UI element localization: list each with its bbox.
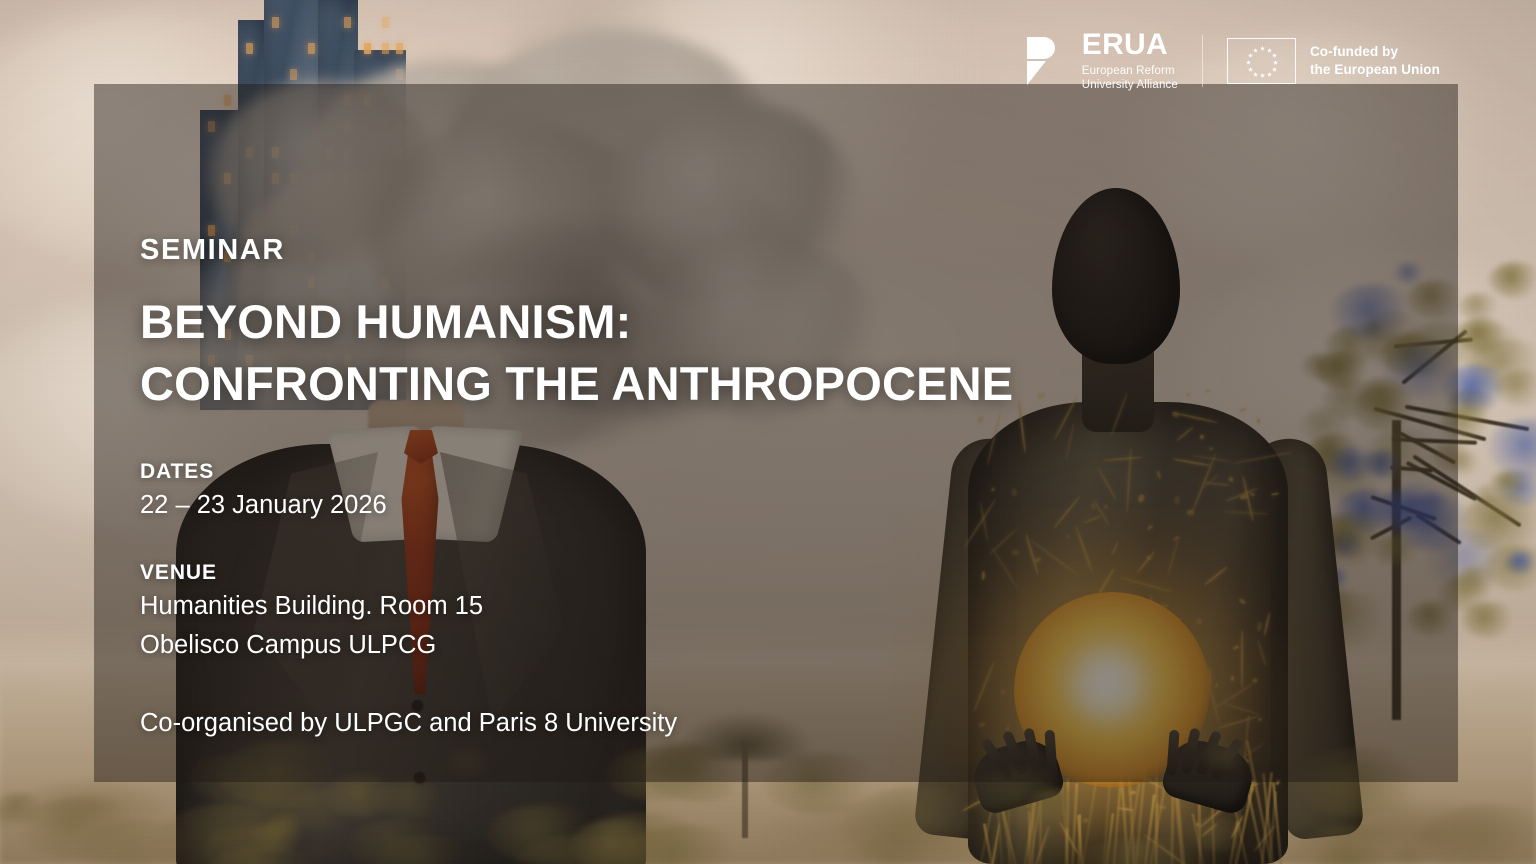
shrub-clump	[1184, 817, 1253, 852]
eu-star-icon	[1246, 60, 1251, 65]
erua-tagline-line2: University Alliance	[1082, 78, 1178, 92]
tree-foliage-clump	[1487, 419, 1536, 475]
eu-star-icon	[1260, 73, 1265, 78]
eu-star-icon	[1248, 53, 1253, 58]
shrub-clump	[347, 819, 448, 864]
detail-label: DATES	[140, 459, 1160, 484]
detail-value: Obelisco Campus ULPCG	[140, 627, 1160, 663]
eu-flag-icon	[1227, 38, 1296, 84]
title-line-1: BEYOND HUMANISM:	[140, 291, 1160, 353]
eu-line1: Co-funded by	[1310, 43, 1440, 62]
eu-star-icon	[1272, 67, 1277, 72]
detail-block: DATES22 – 23 January 2026	[140, 459, 1160, 523]
eu-star-icon	[1260, 46, 1265, 51]
tree-foliage-clump	[1462, 602, 1517, 638]
eu-cofunding-logo: Co-funded by the European Union	[1227, 38, 1440, 84]
organisers-credit: Co-organised by ULPGC and Paris 8 Univer…	[140, 707, 1160, 740]
tree-foliage-clump	[1504, 551, 1536, 574]
eu-star-icon	[1253, 48, 1258, 53]
eu-star-icon	[1248, 67, 1253, 72]
event-kicker: SEMINAR	[140, 236, 1160, 265]
title-line-2: CONFRONTING THE ANTHROPOCENE	[140, 353, 1160, 415]
eu-star-icon	[1267, 72, 1272, 77]
eu-line2: the European Union	[1310, 61, 1440, 80]
erua-wordmark: ERUA	[1082, 30, 1178, 60]
tree-foliage-clump	[1489, 262, 1536, 298]
erua-logo: ERUA European Reform University Alliance	[1025, 30, 1178, 93]
event-poster: ERUA European Reform University Alliance…	[0, 0, 1536, 864]
erua-r-mark-icon	[1025, 37, 1069, 85]
event-details: DATES22 – 23 January 2026VENUEHumanities…	[140, 459, 1160, 663]
detail-label: VENUE	[140, 560, 1160, 585]
detail-block: VENUEHumanities Building. Room 15Obelisc…	[140, 560, 1160, 664]
eu-star-icon	[1273, 60, 1278, 65]
detail-value: 22 – 23 January 2026	[140, 487, 1160, 523]
page-title: BEYOND HUMANISM: CONFRONTING THE ANTHROP…	[140, 291, 1160, 414]
poster-copy: SEMINAR BEYOND HUMANISM: CONFRONTING THE…	[140, 236, 1160, 740]
logo-divider	[1202, 35, 1203, 87]
detail-value: Humanities Building. Room 15	[140, 588, 1160, 624]
logo-row: ERUA European Reform University Alliance…	[1025, 30, 1440, 93]
eu-star-icon	[1272, 53, 1277, 58]
eu-star-icon	[1253, 72, 1258, 77]
tree-foliage-clump	[1454, 566, 1500, 596]
erua-tagline-line1: European Reform	[1082, 64, 1178, 78]
